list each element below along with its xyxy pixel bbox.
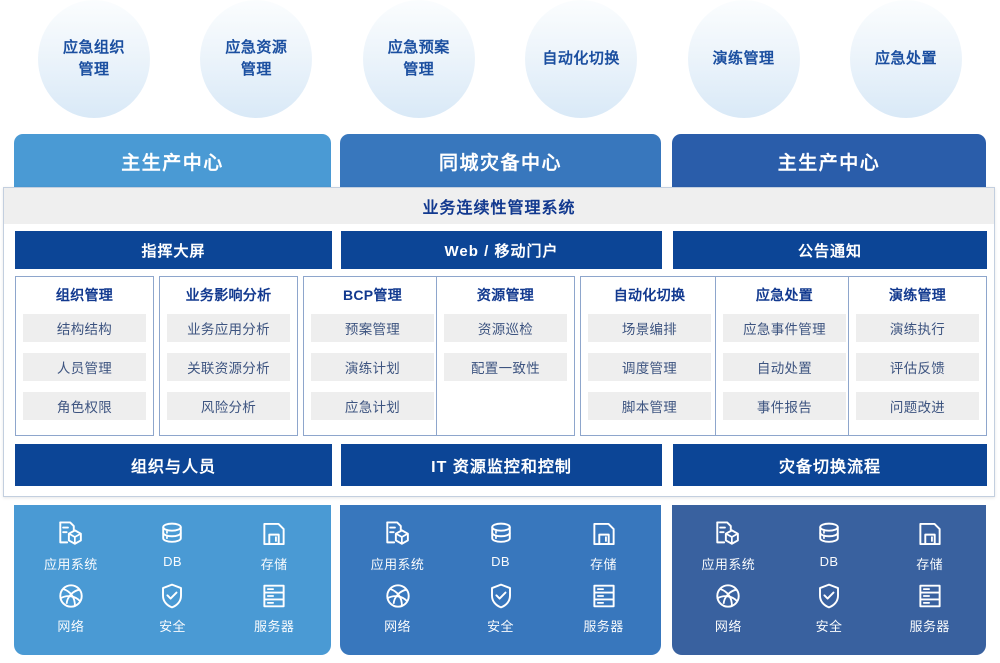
infra-item-server[interactable]: 服务器 bbox=[552, 581, 655, 643]
panel-item[interactable]: 演练执行 bbox=[856, 314, 979, 342]
infra-item-label: 安全 bbox=[487, 616, 514, 635]
panel-item[interactable]: 角色权限 bbox=[23, 392, 146, 420]
infra-item-label: 服务器 bbox=[583, 616, 623, 635]
panel-item[interactable]: 调度管理 bbox=[588, 353, 711, 381]
server-icon bbox=[589, 581, 619, 611]
panel-title: 业务影响分析 bbox=[167, 285, 290, 305]
panel-resource-management[interactable]: 资源管理 资源巡检 配置一致性 bbox=[436, 276, 575, 436]
header-metro-dr-center[interactable]: 同城灾备中心 bbox=[340, 134, 661, 189]
infra-item-security[interactable]: 安全 bbox=[122, 581, 224, 643]
database-icon bbox=[157, 519, 187, 549]
panel-item[interactable]: 配置一致性 bbox=[444, 353, 567, 381]
infra-item-application-system[interactable]: 应用系统 bbox=[20, 519, 122, 581]
panel-item[interactable]: 事件报告 bbox=[723, 392, 846, 420]
panel-title: 应急处置 bbox=[723, 285, 846, 305]
infra-item-label: DB bbox=[820, 554, 839, 569]
infra-panel-primary-right: 应用系统 DB 存储 bbox=[672, 505, 986, 655]
panel-title: 演练管理 bbox=[856, 285, 979, 305]
infra-item-label: 应用系统 bbox=[371, 554, 425, 573]
module-panel-row: 组织管理 结构结构 人员管理 角色权限 业务影响分析 业务应用分析 关联资源分析… bbox=[4, 276, 994, 440]
infra-item-label: 存储 bbox=[590, 554, 617, 573]
bar-org-and-personnel[interactable]: 组织与人员 bbox=[15, 444, 332, 486]
infra-item-label: 应用系统 bbox=[44, 554, 98, 573]
infra-icon-grid: 应用系统 DB 存储 bbox=[678, 519, 980, 643]
panel-item[interactable]: 预案管理 bbox=[311, 314, 434, 342]
panel-item[interactable]: 应急计划 bbox=[311, 392, 434, 420]
network-icon bbox=[56, 581, 86, 611]
panel-title: 自动化切换 bbox=[588, 285, 711, 305]
storage-icon bbox=[259, 519, 289, 549]
panel-bcp-management[interactable]: BCP管理 预案管理 演练计划 应急计划 bbox=[303, 276, 442, 436]
application-system-icon bbox=[383, 519, 413, 549]
infra-item-label: 服务器 bbox=[910, 616, 950, 635]
infra-item-storage[interactable]: 存储 bbox=[879, 519, 980, 581]
panel-item[interactable]: 评估反馈 bbox=[856, 353, 979, 381]
infra-item-label: 安全 bbox=[159, 616, 186, 635]
infrastructure-row: 应用系统 DB 存储 bbox=[0, 505, 1000, 663]
panel-automated-switchover[interactable]: 自动化切换 场景编排 调度管理 脚本管理 bbox=[580, 276, 719, 436]
bubble-emergency-response[interactable]: 应急处置 bbox=[850, 0, 962, 118]
infra-item-network[interactable]: 网络 bbox=[678, 581, 779, 643]
infra-item-label: 安全 bbox=[816, 616, 843, 635]
infra-item-label: 网络 bbox=[384, 616, 411, 635]
panel-drill-management[interactable]: 演练管理 演练执行 评估反馈 问题改进 bbox=[848, 276, 987, 436]
bar-dr-switchover-process[interactable]: 灾备切换流程 bbox=[673, 444, 987, 486]
infra-item-network[interactable]: 网络 bbox=[20, 581, 122, 643]
panel-item[interactable]: 关联资源分析 bbox=[167, 353, 290, 381]
infra-item-application-system[interactable]: 应用系统 bbox=[678, 519, 779, 581]
panel-item[interactable]: 业务应用分析 bbox=[167, 314, 290, 342]
bar-announcement-notice[interactable]: 公告通知 bbox=[673, 231, 987, 269]
bar-web-mobile-portal[interactable]: Web / 移动门户 bbox=[341, 231, 662, 269]
header-primary-production-center-left[interactable]: 主生产中心 bbox=[14, 134, 331, 189]
bubble-line: 应急处置 bbox=[863, 48, 949, 70]
infra-item-storage[interactable]: 存储 bbox=[223, 519, 325, 581]
header-primary-production-center-right[interactable]: 主生产中心 bbox=[672, 134, 986, 189]
panel-item[interactable]: 问题改进 bbox=[856, 392, 979, 420]
infra-item-server[interactable]: 服务器 bbox=[223, 581, 325, 643]
bubble-line: 应急资源 bbox=[213, 37, 299, 59]
bottom-domain-bar-row: 组织与人员 IT 资源监控和控制 灾备切换流程 bbox=[4, 444, 994, 486]
infra-panel-metro-dr: 应用系统 DB 存储 bbox=[340, 505, 661, 655]
infra-item-label: DB bbox=[163, 554, 182, 569]
panel-item[interactable]: 场景编排 bbox=[588, 314, 711, 342]
storage-icon bbox=[915, 519, 945, 549]
infra-icon-grid: 应用系统 DB 存储 bbox=[20, 519, 325, 643]
infra-item-application-system[interactable]: 应用系统 bbox=[346, 519, 449, 581]
infra-item-network[interactable]: 网络 bbox=[346, 581, 449, 643]
bubble-emergency-resource-management[interactable]: 应急资源管理 bbox=[200, 0, 312, 118]
infra-item-label: 网络 bbox=[715, 616, 742, 635]
infra-panel-primary-left: 应用系统 DB 存储 bbox=[14, 505, 331, 655]
server-icon bbox=[915, 581, 945, 611]
panel-title: 资源管理 bbox=[444, 285, 567, 305]
panel-title: BCP管理 bbox=[311, 285, 434, 305]
infra-item-label: 服务器 bbox=[254, 616, 294, 635]
security-shield-icon bbox=[486, 581, 516, 611]
panel-emergency-response[interactable]: 应急处置 应急事件管理 自动处置 事件报告 bbox=[715, 276, 854, 436]
bubble-line: 应急预案 bbox=[376, 37, 462, 59]
infra-item-database[interactable]: DB bbox=[779, 519, 880, 581]
application-system-icon bbox=[56, 519, 86, 549]
panel-item[interactable]: 人员管理 bbox=[23, 353, 146, 381]
panel-item[interactable]: 应急事件管理 bbox=[723, 314, 846, 342]
storage-icon bbox=[589, 519, 619, 549]
infra-item-label: 存储 bbox=[261, 554, 288, 573]
capability-bubble-row: 应急组织管理 应急资源管理 应急预案管理 自动化切换 演练管理 应急处置 bbox=[0, 0, 1000, 130]
network-icon bbox=[713, 581, 743, 611]
infra-item-security[interactable]: 安全 bbox=[779, 581, 880, 643]
top-channel-bar-row: 指挥大屏 Web / 移动门户 公告通知 bbox=[4, 231, 994, 269]
panel-title: 组织管理 bbox=[23, 285, 146, 305]
bar-command-screen[interactable]: 指挥大屏 bbox=[15, 231, 332, 269]
infra-icon-grid: 应用系统 DB 存储 bbox=[346, 519, 655, 643]
bubble-line: 自动化切换 bbox=[538, 48, 624, 70]
infra-item-security[interactable]: 安全 bbox=[449, 581, 552, 643]
panel-item[interactable]: 演练计划 bbox=[311, 353, 434, 381]
panel-item[interactable]: 脚本管理 bbox=[588, 392, 711, 420]
panel-item[interactable]: 风险分析 bbox=[167, 392, 290, 420]
security-shield-icon bbox=[814, 581, 844, 611]
bubble-line: 管理 bbox=[51, 59, 137, 81]
infra-item-label: 存储 bbox=[916, 554, 943, 573]
bubble-emergency-plan-management[interactable]: 应急预案管理 bbox=[363, 0, 475, 118]
bubble-line: 演练管理 bbox=[701, 48, 787, 70]
network-icon bbox=[383, 581, 413, 611]
bcm-system-card: 业务连续性管理系统 指挥大屏 Web / 移动门户 公告通知 组织管理 结构结构… bbox=[3, 187, 995, 497]
infra-item-server[interactable]: 服务器 bbox=[879, 581, 980, 643]
panel-item[interactable]: 结构结构 bbox=[23, 314, 146, 342]
bubble-emergency-org-management[interactable]: 应急组织管理 bbox=[38, 0, 150, 118]
database-icon bbox=[814, 519, 844, 549]
bubble-drill-management[interactable]: 演练管理 bbox=[688, 0, 800, 118]
panel-item[interactable]: 资源巡检 bbox=[444, 314, 567, 342]
bubble-line: 应急组织 bbox=[51, 37, 137, 59]
panel-business-impact-analysis[interactable]: 业务影响分析 业务应用分析 关联资源分析 风险分析 bbox=[159, 276, 298, 436]
panel-org-management[interactable]: 组织管理 结构结构 人员管理 角色权限 bbox=[15, 276, 154, 436]
datacenter-header-row: 主生产中心 同城灾备中心 主生产中心 bbox=[0, 134, 1000, 189]
bubble-line: 管理 bbox=[376, 59, 462, 81]
security-shield-icon bbox=[157, 581, 187, 611]
panel-item[interactable]: 自动处置 bbox=[723, 353, 846, 381]
infra-item-storage[interactable]: 存储 bbox=[552, 519, 655, 581]
bubble-automated-switchover[interactable]: 自动化切换 bbox=[525, 0, 637, 118]
application-system-icon bbox=[713, 519, 743, 549]
infra-item-database[interactable]: DB bbox=[122, 519, 224, 581]
infra-item-label: 应用系统 bbox=[702, 554, 756, 573]
system-title: 业务连续性管理系统 bbox=[4, 188, 994, 225]
infra-item-database[interactable]: DB bbox=[449, 519, 552, 581]
bubble-line: 管理 bbox=[213, 59, 299, 81]
bar-it-resource-monitoring-control[interactable]: IT 资源监控和控制 bbox=[341, 444, 662, 486]
infra-item-label: DB bbox=[491, 554, 510, 569]
server-icon bbox=[259, 581, 289, 611]
infra-item-label: 网络 bbox=[57, 616, 84, 635]
database-icon bbox=[486, 519, 516, 549]
